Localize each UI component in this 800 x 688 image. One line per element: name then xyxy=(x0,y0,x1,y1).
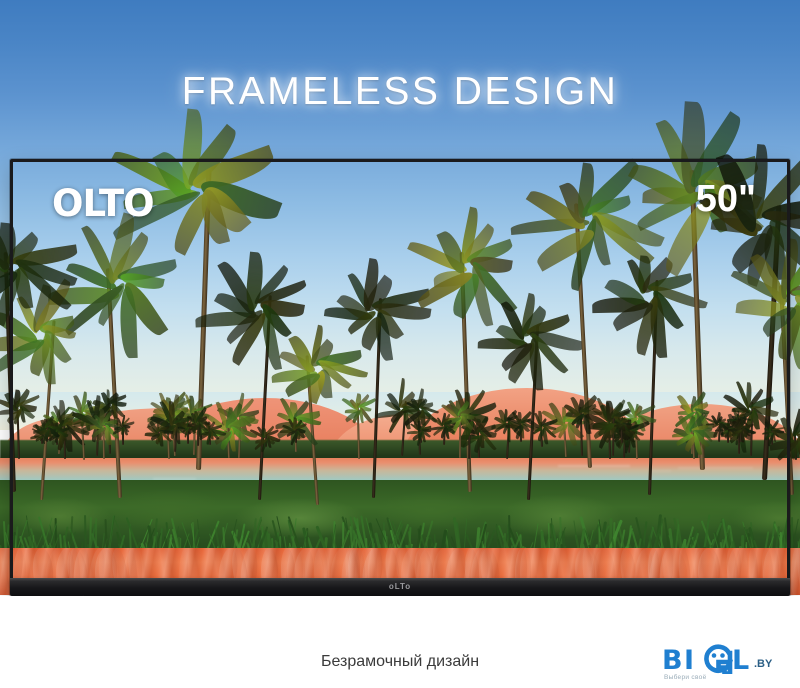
headline-frameless-design: FRAMELESS DESIGN xyxy=(0,70,800,114)
olto-brand-logo: OLTO xyxy=(52,182,154,225)
watermark-letter-i: I xyxy=(684,645,693,676)
smiley-g-icon xyxy=(703,644,733,674)
screen-size-badge: 50" xyxy=(696,178,756,221)
palm-tree xyxy=(795,430,799,460)
palm-tree xyxy=(790,285,794,495)
watermark-letter-l: L xyxy=(732,645,748,676)
bigl-by-watermark[interactable]: B I L .BY Выбери своё xyxy=(662,645,792,685)
tv-bezel-brand-logo: oLTo xyxy=(389,582,411,591)
watermark-tld: .BY xyxy=(754,658,772,670)
watermark-tagline: Выбери своё xyxy=(664,674,706,681)
product-image-canvas: oLTo FRAMELESS DESIGN OLTO 50" Безрамочн… xyxy=(0,0,800,688)
watermark-letter-b: B xyxy=(662,645,682,676)
